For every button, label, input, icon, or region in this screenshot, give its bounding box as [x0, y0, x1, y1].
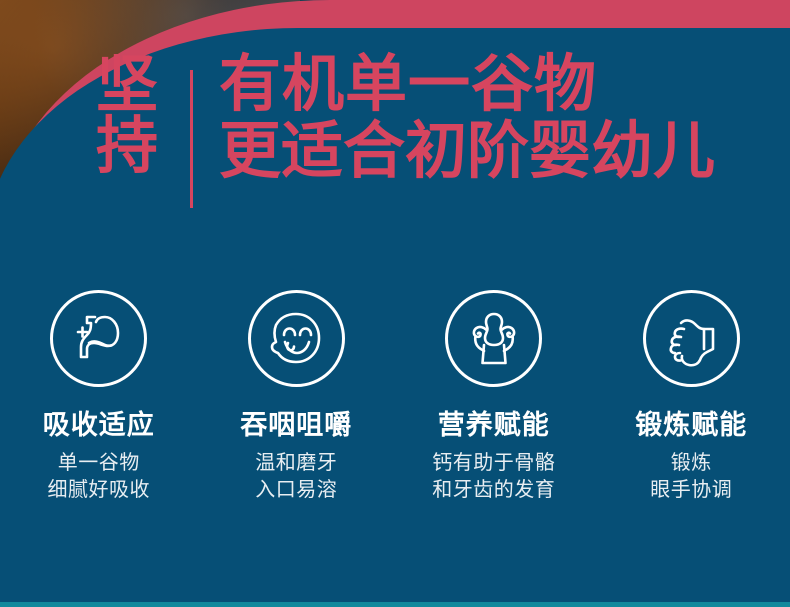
feature-item-nutrition: 营养赋能 钙有助于骨骼 和牙齿的发育: [395, 290, 593, 504]
grasping-hand-icon: [659, 307, 723, 371]
kicker-char-1: 坚: [62, 56, 192, 117]
icon-circle: [445, 290, 542, 387]
vertical-divider: [190, 70, 193, 208]
feature-item-chewing: 吞咽咀嚼 温和磨牙 入口易溶: [198, 290, 396, 504]
feature-title: 营养赋能: [438, 411, 550, 441]
feature-subtitle: 温和磨牙 入口易溶: [255, 450, 337, 504]
icon-circle: [50, 290, 147, 387]
feature-subtitle: 钙有助于骨骼 和牙齿的发育: [432, 450, 555, 504]
feature-sub-line-2: 细腻好吸收: [48, 477, 151, 504]
feature-sub-line-2: 入口易溶: [255, 477, 337, 504]
feature-item-absorption: 吸收适应 单一谷物 细腻好吸收: [0, 290, 198, 504]
feature-sub-line-1: 单一谷物: [48, 450, 151, 477]
flexing-muscles-icon: [462, 307, 526, 371]
feature-title: 锻炼赋能: [635, 411, 747, 441]
feature-subtitle: 锻炼 眼手协调: [650, 450, 732, 504]
page-title: 有机单一谷物 更适合初阶婴幼儿: [219, 52, 715, 186]
feature-sub-line-1: 钙有助于骨骼: [432, 450, 555, 477]
feature-sub-line-1: 温和磨牙: [255, 450, 337, 477]
kicker-char-2: 持: [62, 117, 192, 178]
feature-sub-line-2: 眼手协调: [650, 477, 732, 504]
feature-title: 吸收适应: [43, 411, 155, 441]
feature-title: 吞咽咀嚼: [240, 411, 352, 441]
promo-banner: 坚 持 有机单一谷物 更适合初阶婴幼儿: [0, 0, 790, 607]
stomach-plus-icon: [67, 307, 131, 371]
banner-content: 坚 持 有机单一谷物 更适合初阶婴幼儿: [0, 0, 790, 607]
bottom-accent-strip: [0, 602, 790, 607]
kicker-vertical-text: 坚 持: [62, 52, 192, 178]
feature-list: 吸收适应 单一谷物 细腻好吸收: [0, 290, 790, 504]
headline-row: 坚 持 有机单一谷物 更适合初阶婴幼儿: [0, 52, 790, 208]
feature-subtitle: 单一谷物 细腻好吸收: [48, 450, 151, 504]
feature-item-exercise: 锻炼赋能 锻炼 眼手协调: [593, 290, 790, 504]
headline-line-2: 更适合初阶婴幼儿: [219, 119, 715, 186]
icon-circle: [248, 290, 345, 387]
feature-sub-line-2: 和牙齿的发育: [432, 477, 555, 504]
feature-sub-line-1: 锻炼: [650, 450, 732, 477]
smiling-face-tongue-icon: [264, 307, 328, 371]
headline-line-1: 有机单一谷物: [219, 52, 715, 119]
icon-circle: [643, 290, 740, 387]
